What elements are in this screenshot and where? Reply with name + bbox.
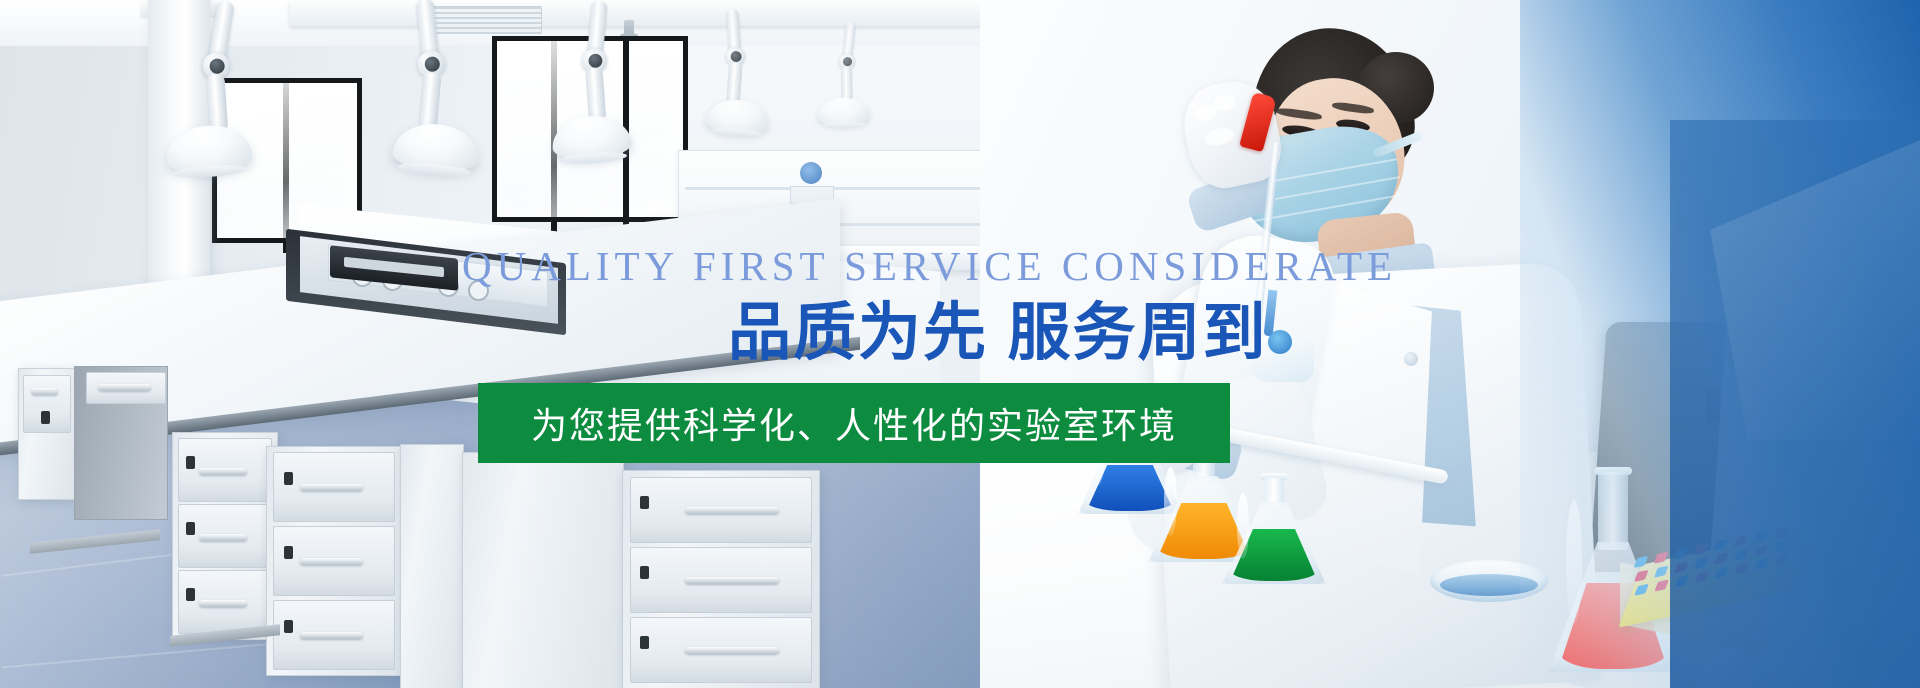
subtitle-bar: 为您提供科学化、人性化的实验室环境: [478, 383, 1230, 463]
subtitle-text: 为您提供科学化、人性化的实验室环境: [531, 397, 1177, 449]
banner-copy: QUALITY FIRST SERVICE CONSIDERATE 品质为先 服…: [0, 0, 1920, 688]
english-tagline: QUALITY FIRST SERVICE CONSIDERATE: [462, 246, 1397, 287]
headline: 品质为先 服务周到: [728, 300, 1268, 366]
hero-banner: QUALITY FIRST SERVICE CONSIDERATE 品质为先 服…: [0, 0, 1920, 688]
